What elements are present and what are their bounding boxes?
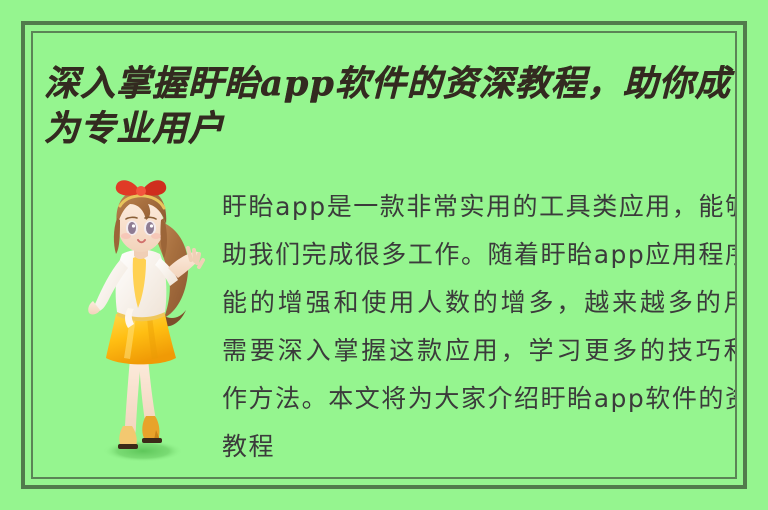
shoe-right	[142, 416, 162, 443]
article-card: 深入掌握盱眙app软件的资深教程，助你成为专业用户	[0, 0, 768, 510]
content-area: 深入掌握盱眙app软件的资深教程，助你成为专业用户	[33, 33, 735, 477]
hair-bow	[116, 180, 166, 196]
character-illustration	[68, 168, 213, 477]
side-hair-left	[114, 218, 120, 254]
article-body-text: 盱眙app是一款非常实用的工具类应用，能够帮助我们完成很多工作。随着盱眙app应…	[222, 183, 735, 471]
character-shadow	[103, 440, 183, 462]
blush-right	[151, 233, 161, 239]
blush-left	[121, 233, 131, 239]
page-title: 深入掌握盱眙app软件的资深教程，助你成为专业用户	[44, 61, 735, 151]
skirt	[106, 314, 176, 364]
